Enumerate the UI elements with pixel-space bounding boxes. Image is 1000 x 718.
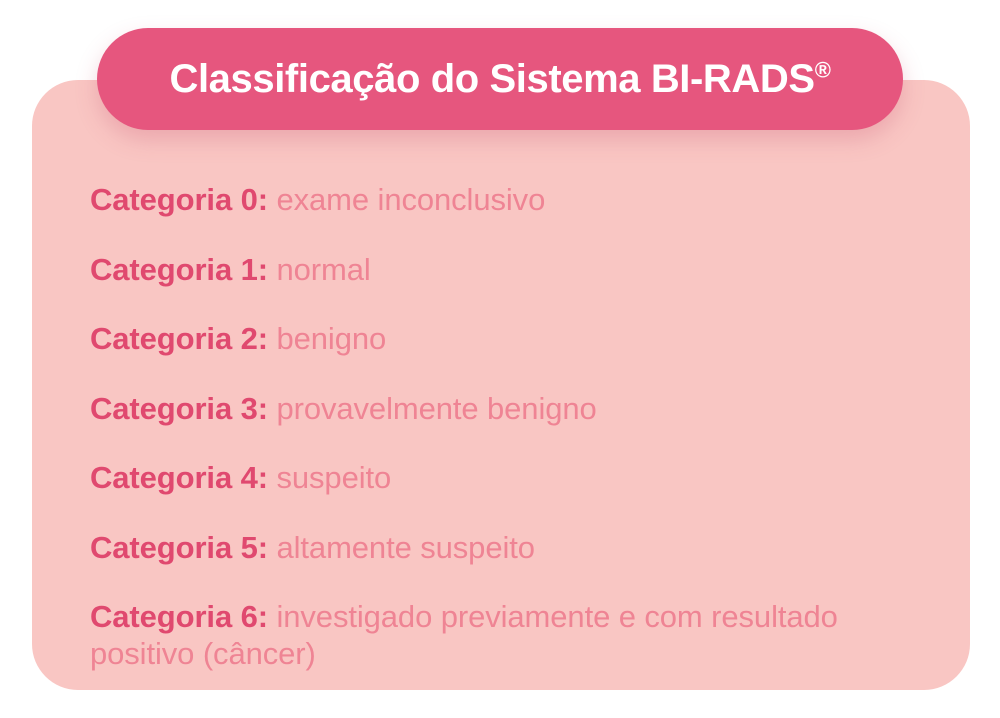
category-label: Categoria 4:: [90, 460, 268, 495]
category-label: Categoria 5:: [90, 530, 268, 565]
category-label: Categoria 3:: [90, 391, 268, 426]
birads-classification-infographic: Classificação do Sistema BI-RADS® Catego…: [0, 0, 1000, 718]
title-pill-banner: Classificação do Sistema BI-RADS®: [97, 28, 903, 130]
category-description: normal: [276, 252, 370, 287]
category-description: exame inconclusivo: [276, 182, 545, 217]
list-item: Categoria 4: suspeito: [90, 460, 890, 497]
page-title: Classificação do Sistema BI-RADS®: [169, 59, 830, 99]
list-item: Categoria 3: provavelmente benigno: [90, 391, 890, 428]
list-item: Categoria 6: investigado previamente e c…: [90, 599, 890, 672]
category-description: benigno: [276, 321, 386, 356]
category-label: Categoria 2:: [90, 321, 268, 356]
category-label: Categoria 0:: [90, 182, 268, 217]
registered-trademark-symbol: ®: [815, 58, 831, 83]
category-description: suspeito: [276, 460, 391, 495]
list-item: Categoria 2: benigno: [90, 321, 890, 358]
category-label: Categoria 6:: [90, 599, 268, 634]
category-description: altamente suspeito: [276, 530, 534, 565]
list-item: Categoria 5: altamente suspeito: [90, 530, 890, 567]
category-label: Categoria 1:: [90, 252, 268, 287]
category-list: Categoria 0: exame inconclusivo Categori…: [90, 182, 890, 673]
page-title-main: Classificação do Sistema BI-RADS: [169, 57, 814, 101]
category-description: provavelmente benigno: [276, 391, 596, 426]
list-item: Categoria 1: normal: [90, 252, 890, 289]
list-item: Categoria 0: exame inconclusivo: [90, 182, 890, 219]
